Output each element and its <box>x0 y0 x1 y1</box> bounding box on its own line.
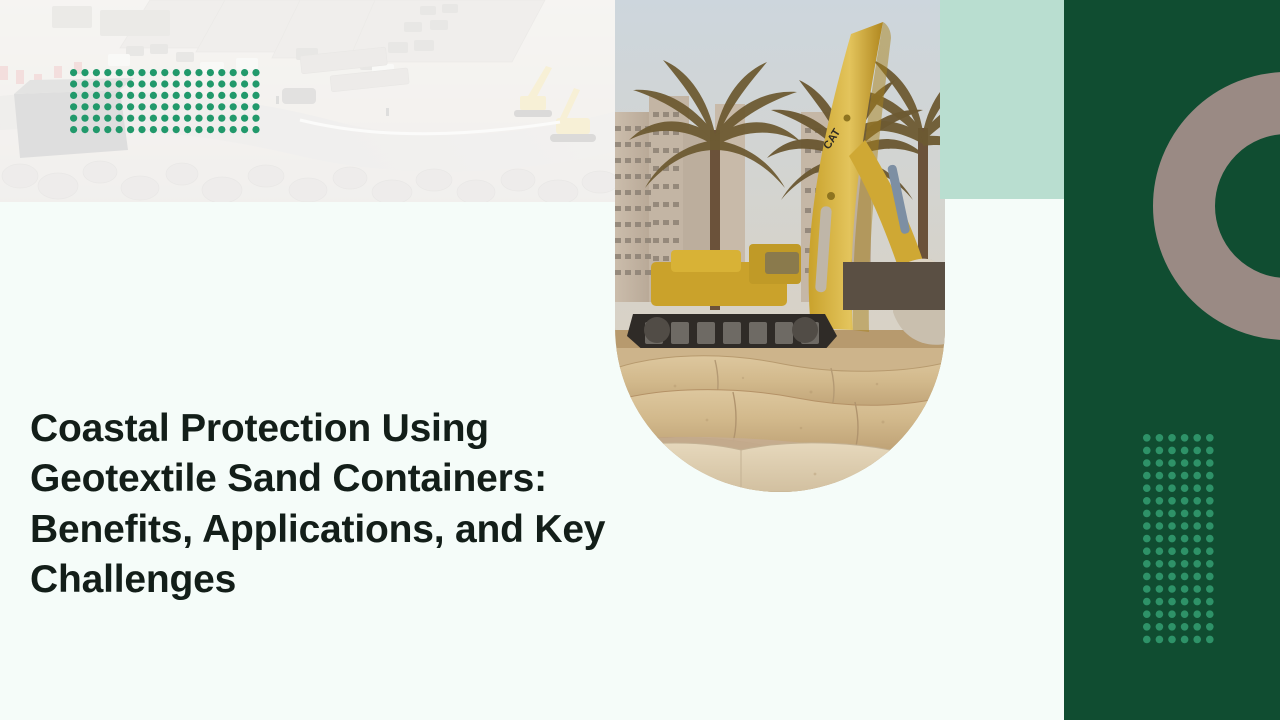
dot-grid-panel <box>1143 434 1218 644</box>
right-green-panel <box>1064 0 1280 720</box>
mint-accent-band <box>940 0 1065 199</box>
dot-grid-topleft <box>70 69 262 137</box>
taupe-ring-decor <box>1153 72 1280 340</box>
slide-canvas: CAT <box>0 0 1280 720</box>
aerial-construction-photo <box>0 0 620 202</box>
page-title: Coastal Protection Using Geotextile Sand… <box>30 404 790 605</box>
